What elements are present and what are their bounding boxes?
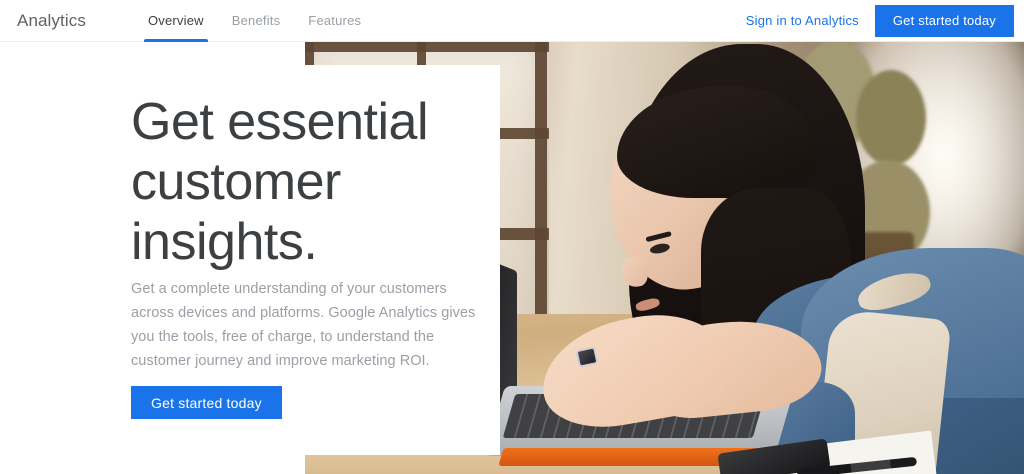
eyebrow — [645, 231, 671, 242]
hero-get-started-button[interactable]: Get started today — [131, 386, 282, 419]
shelf-board — [305, 42, 549, 52]
nav-item-label: Benefits — [232, 13, 281, 28]
card-bottom-fill — [0, 455, 305, 474]
eye — [649, 242, 670, 255]
page-title: Get essential customer insights. — [131, 92, 491, 272]
main-nav: Overview Benefits Features — [134, 0, 375, 42]
nose — [620, 256, 649, 289]
site-header: Analytics Overview Benefits Features Sig… — [0, 0, 1024, 42]
landing-page: Get essential customer insights. Get a c… — [0, 0, 1024, 474]
hero-content-card: Get essential customer insights. Get a c… — [0, 65, 500, 455]
nav-item-label: Features — [308, 13, 361, 28]
hair-bangs — [617, 86, 817, 198]
header-get-started-button[interactable]: Get started today — [875, 5, 1014, 37]
header-actions: Sign in to Analytics Get started today — [730, 0, 1024, 42]
nav-item-label: Overview — [148, 13, 204, 28]
nav-item-benefits[interactable]: Benefits — [218, 0, 295, 42]
nav-item-features[interactable]: Features — [294, 0, 375, 42]
brand-logo[interactable]: Analytics — [17, 11, 86, 31]
nav-item-overview[interactable]: Overview — [134, 0, 218, 42]
hero-description: Get a complete understanding of your cus… — [131, 277, 483, 373]
active-tab-indicator — [144, 39, 208, 42]
sign-in-link[interactable]: Sign in to Analytics — [730, 13, 875, 28]
